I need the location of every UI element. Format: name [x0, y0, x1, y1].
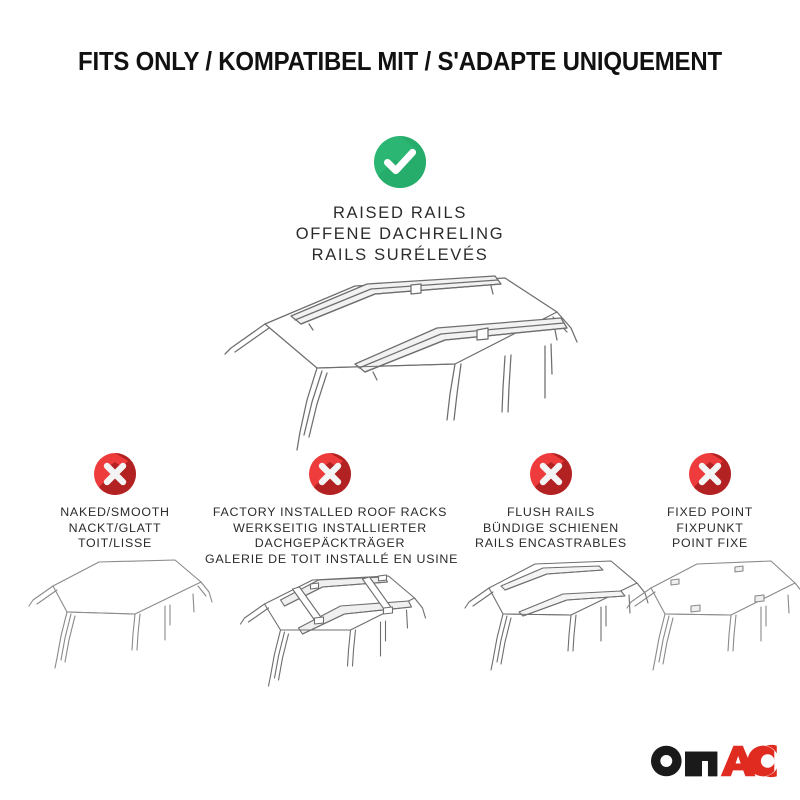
option-label-de-1: WERKSEITIG INSTALLIERTER [205, 521, 455, 537]
option-label-de: NACKT/GLATT [15, 521, 215, 537]
fixed-point-illustration [615, 550, 800, 680]
cross-circle-icon [308, 452, 352, 496]
raised-rails-illustration [205, 272, 605, 462]
compatible-label-en: RAISED RAILS [0, 203, 800, 224]
omac-logo: OMAC [651, 744, 779, 778]
option-label-de-2: DACHGEPÄCKTRÄGER [205, 536, 455, 552]
option-label-en: NAKED/SMOOTH [15, 505, 215, 521]
compatible-label-de: OFFENE DACHRELING [0, 224, 800, 245]
compatible-label-fr: RAILS SURÉLEVÉS [0, 245, 800, 266]
factory-roof-racks-illustration [223, 564, 438, 694]
not-compatible-section: NAKED/SMOOTH NACKT/GLATT TOIT/LISSE [0, 452, 800, 712]
option-labels: NAKED/SMOOTH NACKT/GLATT TOIT/LISSE [15, 505, 215, 552]
page-title: FITS ONLY / KOMPATIBEL MIT / S'ADAPTE UN… [24, 48, 776, 77]
option-label-en: FLUSH RAILS [440, 505, 662, 521]
option-label-en: FIXED POINT [630, 505, 790, 521]
option-flush-rails: FLUSH RAILS BÜNDIGE SCHIENEN RAILS ENCAS… [440, 452, 662, 552]
option-labels: FLUSH RAILS BÜNDIGE SCHIENEN RAILS ENCAS… [440, 505, 662, 552]
header: FITS ONLY / KOMPATIBEL MIT / S'ADAPTE UN… [0, 48, 800, 77]
option-label-de: FIXPUNKT [630, 521, 790, 537]
compatible-labels: RAISED RAILS OFFENE DACHRELING RAILS SUR… [0, 203, 800, 266]
cross-circle-icon [529, 452, 573, 496]
option-label-en: FACTORY INSTALLED ROOF RACKS [205, 505, 455, 521]
naked-smooth-illustration [15, 550, 215, 680]
option-labels: FIXED POINT FIXPUNKT POINT FIXE [630, 505, 790, 552]
cross-circle-icon [93, 452, 137, 496]
check-circle-icon [373, 135, 427, 189]
fitment-infographic: FITS ONLY / KOMPATIBEL MIT / S'ADAPTE UN… [0, 0, 800, 800]
compatible-section: RAISED RAILS OFFENE DACHRELING RAILS SUR… [0, 135, 800, 266]
option-factory-roof-racks: FACTORY INSTALLED ROOF RACKS WERKSEITIG … [205, 452, 455, 567]
option-fixed-point: FIXED POINT FIXPUNKT POINT FIXE [630, 452, 790, 552]
option-naked-smooth: NAKED/SMOOTH NACKT/GLATT TOIT/LISSE [15, 452, 215, 552]
option-label-de: BÜNDIGE SCHIENEN [440, 521, 662, 537]
option-labels: FACTORY INSTALLED ROOF RACKS WERKSEITIG … [205, 505, 455, 567]
cross-circle-icon [688, 452, 732, 496]
